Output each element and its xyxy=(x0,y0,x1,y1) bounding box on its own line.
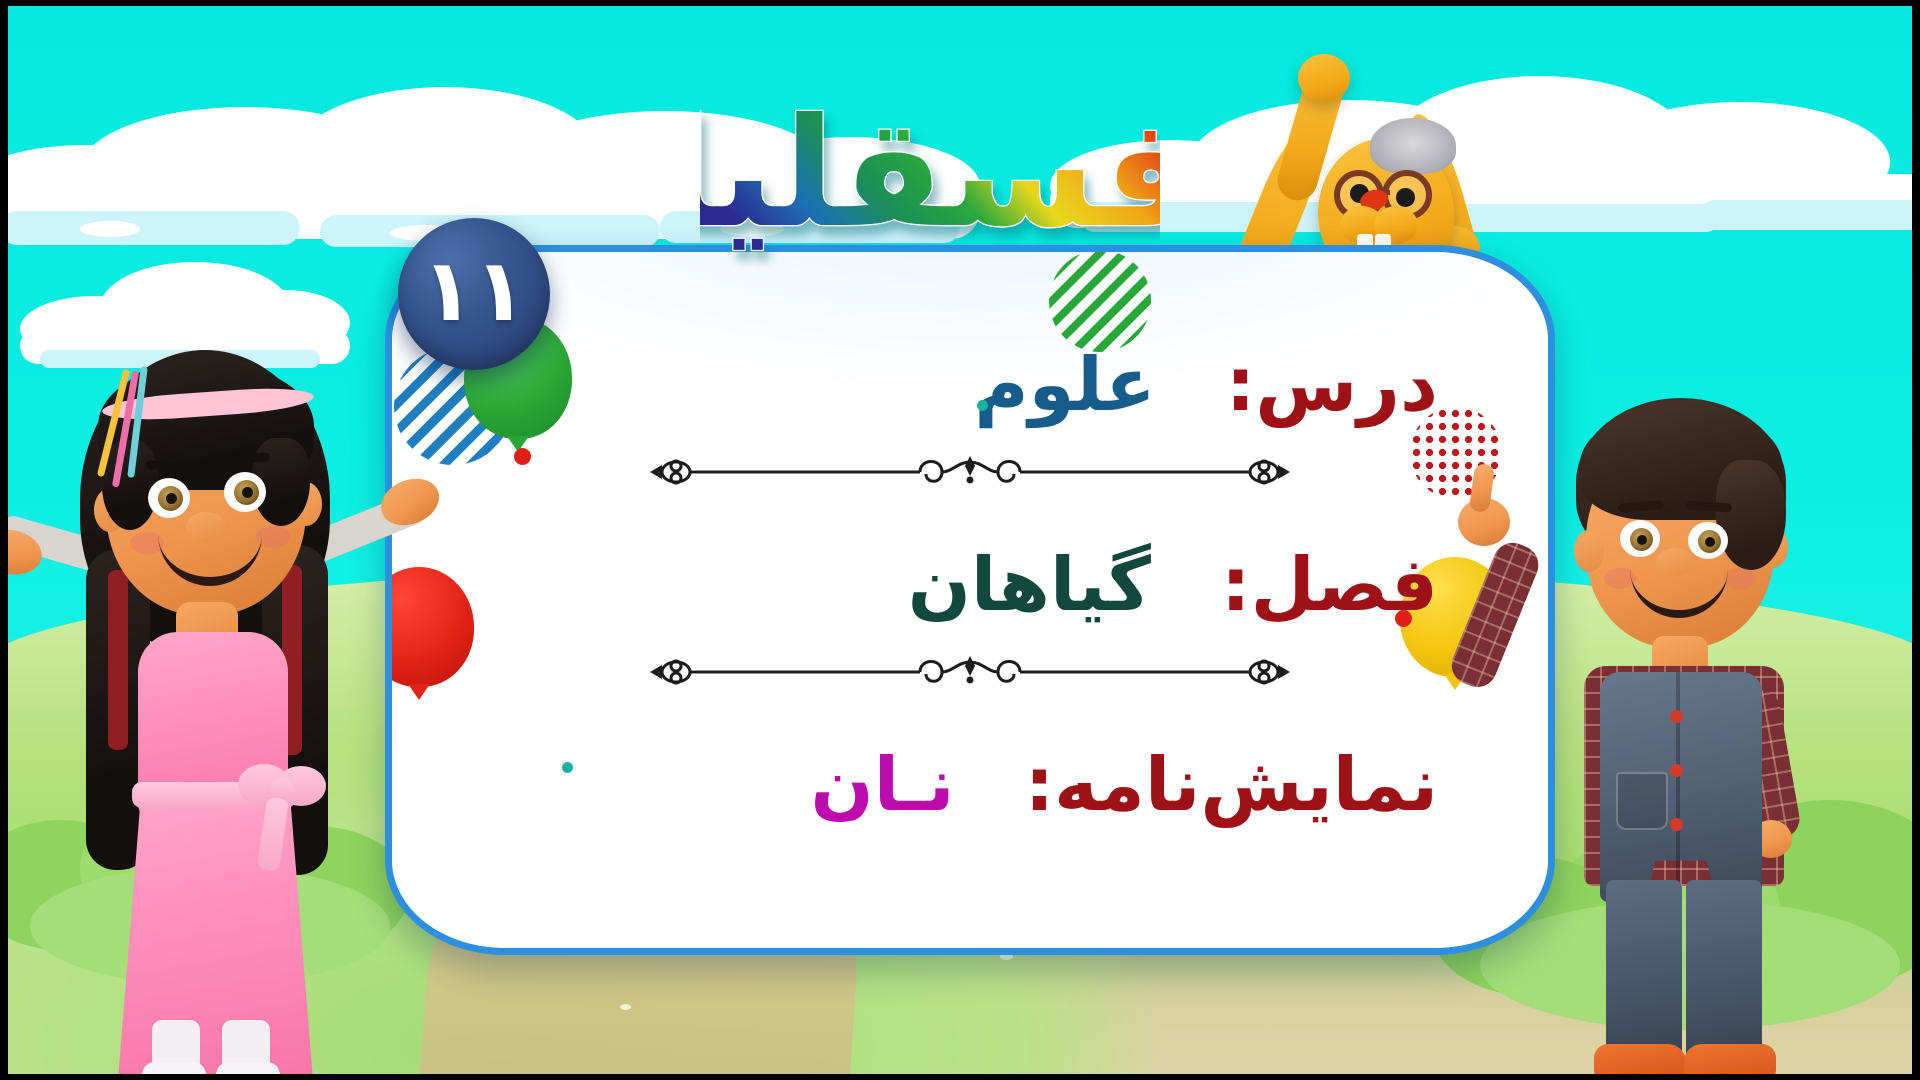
episode-number-badge: ۱۱ xyxy=(398,218,550,370)
info-card: درس: علوم فصل: گیاهان نمایش‌نامه: نـان xyxy=(385,245,1555,955)
row-lesson-value: علوم xyxy=(974,348,1155,422)
row-lesson: درس: علوم xyxy=(392,330,1548,440)
card-rows: درس: علوم فصل: گیاهان نمایش‌نامه: نـان xyxy=(392,252,1548,948)
tiny-dot-teal xyxy=(977,400,988,411)
row-play-label: نمایش‌نامه: xyxy=(1025,748,1438,822)
tiny-dot-teal xyxy=(562,762,573,773)
letterbox-bottom xyxy=(0,1074,1920,1080)
letterbox-top xyxy=(0,0,1920,6)
row-chapter: فصل: گیاهان xyxy=(392,530,1548,640)
girl-character xyxy=(0,320,420,1080)
ornament-divider-2 xyxy=(640,652,1300,692)
row-lesson-label: درس: xyxy=(1226,348,1438,422)
grass-speck xyxy=(620,1004,631,1010)
ornament-divider-1 xyxy=(640,452,1300,492)
letterbox-left xyxy=(0,0,8,1080)
row-play: نمایش‌نامه: نـان xyxy=(392,730,1548,840)
letterbox-right xyxy=(1912,0,1920,1080)
boy-character xyxy=(1520,380,1900,1080)
row-play-value: نـان xyxy=(811,748,955,822)
episode-number-text: ۱۱ xyxy=(422,248,527,334)
row-chapter-value: گیاهان xyxy=(908,548,1151,622)
row-chapter-label: فصل: xyxy=(1221,548,1438,622)
episode-title-card-scene: فسقلیا درس: عل xyxy=(0,0,1920,1080)
